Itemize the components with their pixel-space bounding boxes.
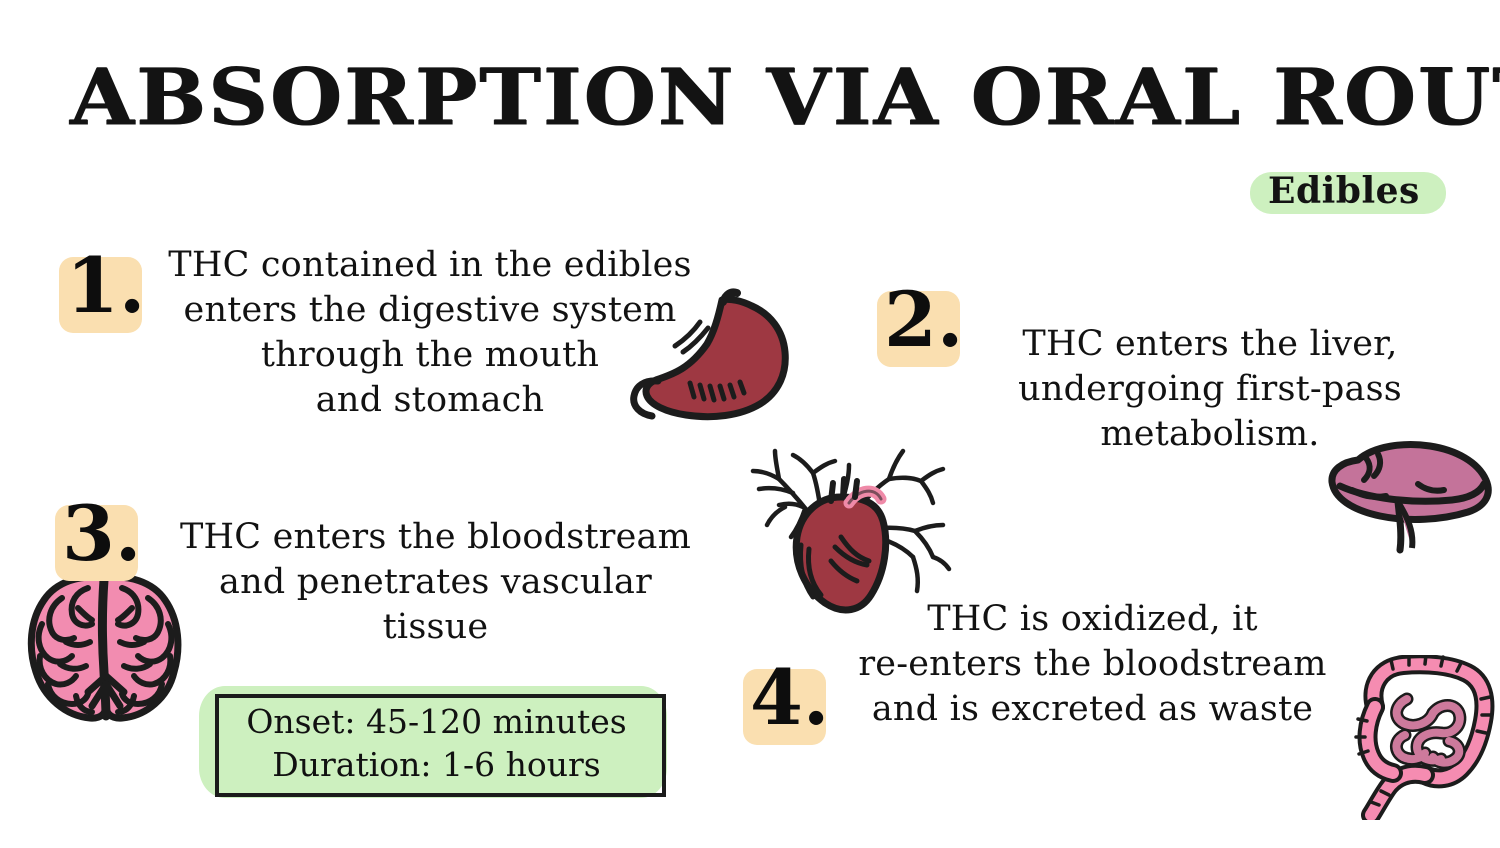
step-3-number: 3. — [62, 496, 141, 572]
step-4-text: THC is oxidized, it re-enters the bloods… — [820, 597, 1365, 732]
infographic-canvas: ABSORPTION VIA ORAL ROUTE Edibles 1. THC… — [0, 0, 1500, 848]
intestines-illustration — [1345, 655, 1500, 820]
heart-illustration — [745, 445, 960, 620]
edibles-badge: Edibles — [1262, 168, 1426, 216]
step-3-text: THC enters the bloodstream and penetrate… — [138, 515, 733, 650]
timing-info-box: Onset: 45-120 minutes Duration: 1-6 hour… — [205, 690, 660, 798]
step-4-number: 4. — [750, 660, 829, 736]
info-box-text: Onset: 45-120 minutes Duration: 1-6 hour… — [215, 700, 658, 786]
step-1-number: 1. — [66, 248, 145, 324]
step-2-number: 2. — [884, 282, 963, 358]
step-2-text: THC enters the liver, undergoing first-p… — [960, 322, 1460, 457]
step-1-text: THC contained in the edibles enters the … — [130, 243, 730, 423]
edibles-badge-label: Edibles — [1262, 168, 1426, 214]
page-title: ABSORPTION VIA ORAL ROUTE — [70, 56, 1500, 140]
liver-illustration — [1322, 440, 1497, 558]
